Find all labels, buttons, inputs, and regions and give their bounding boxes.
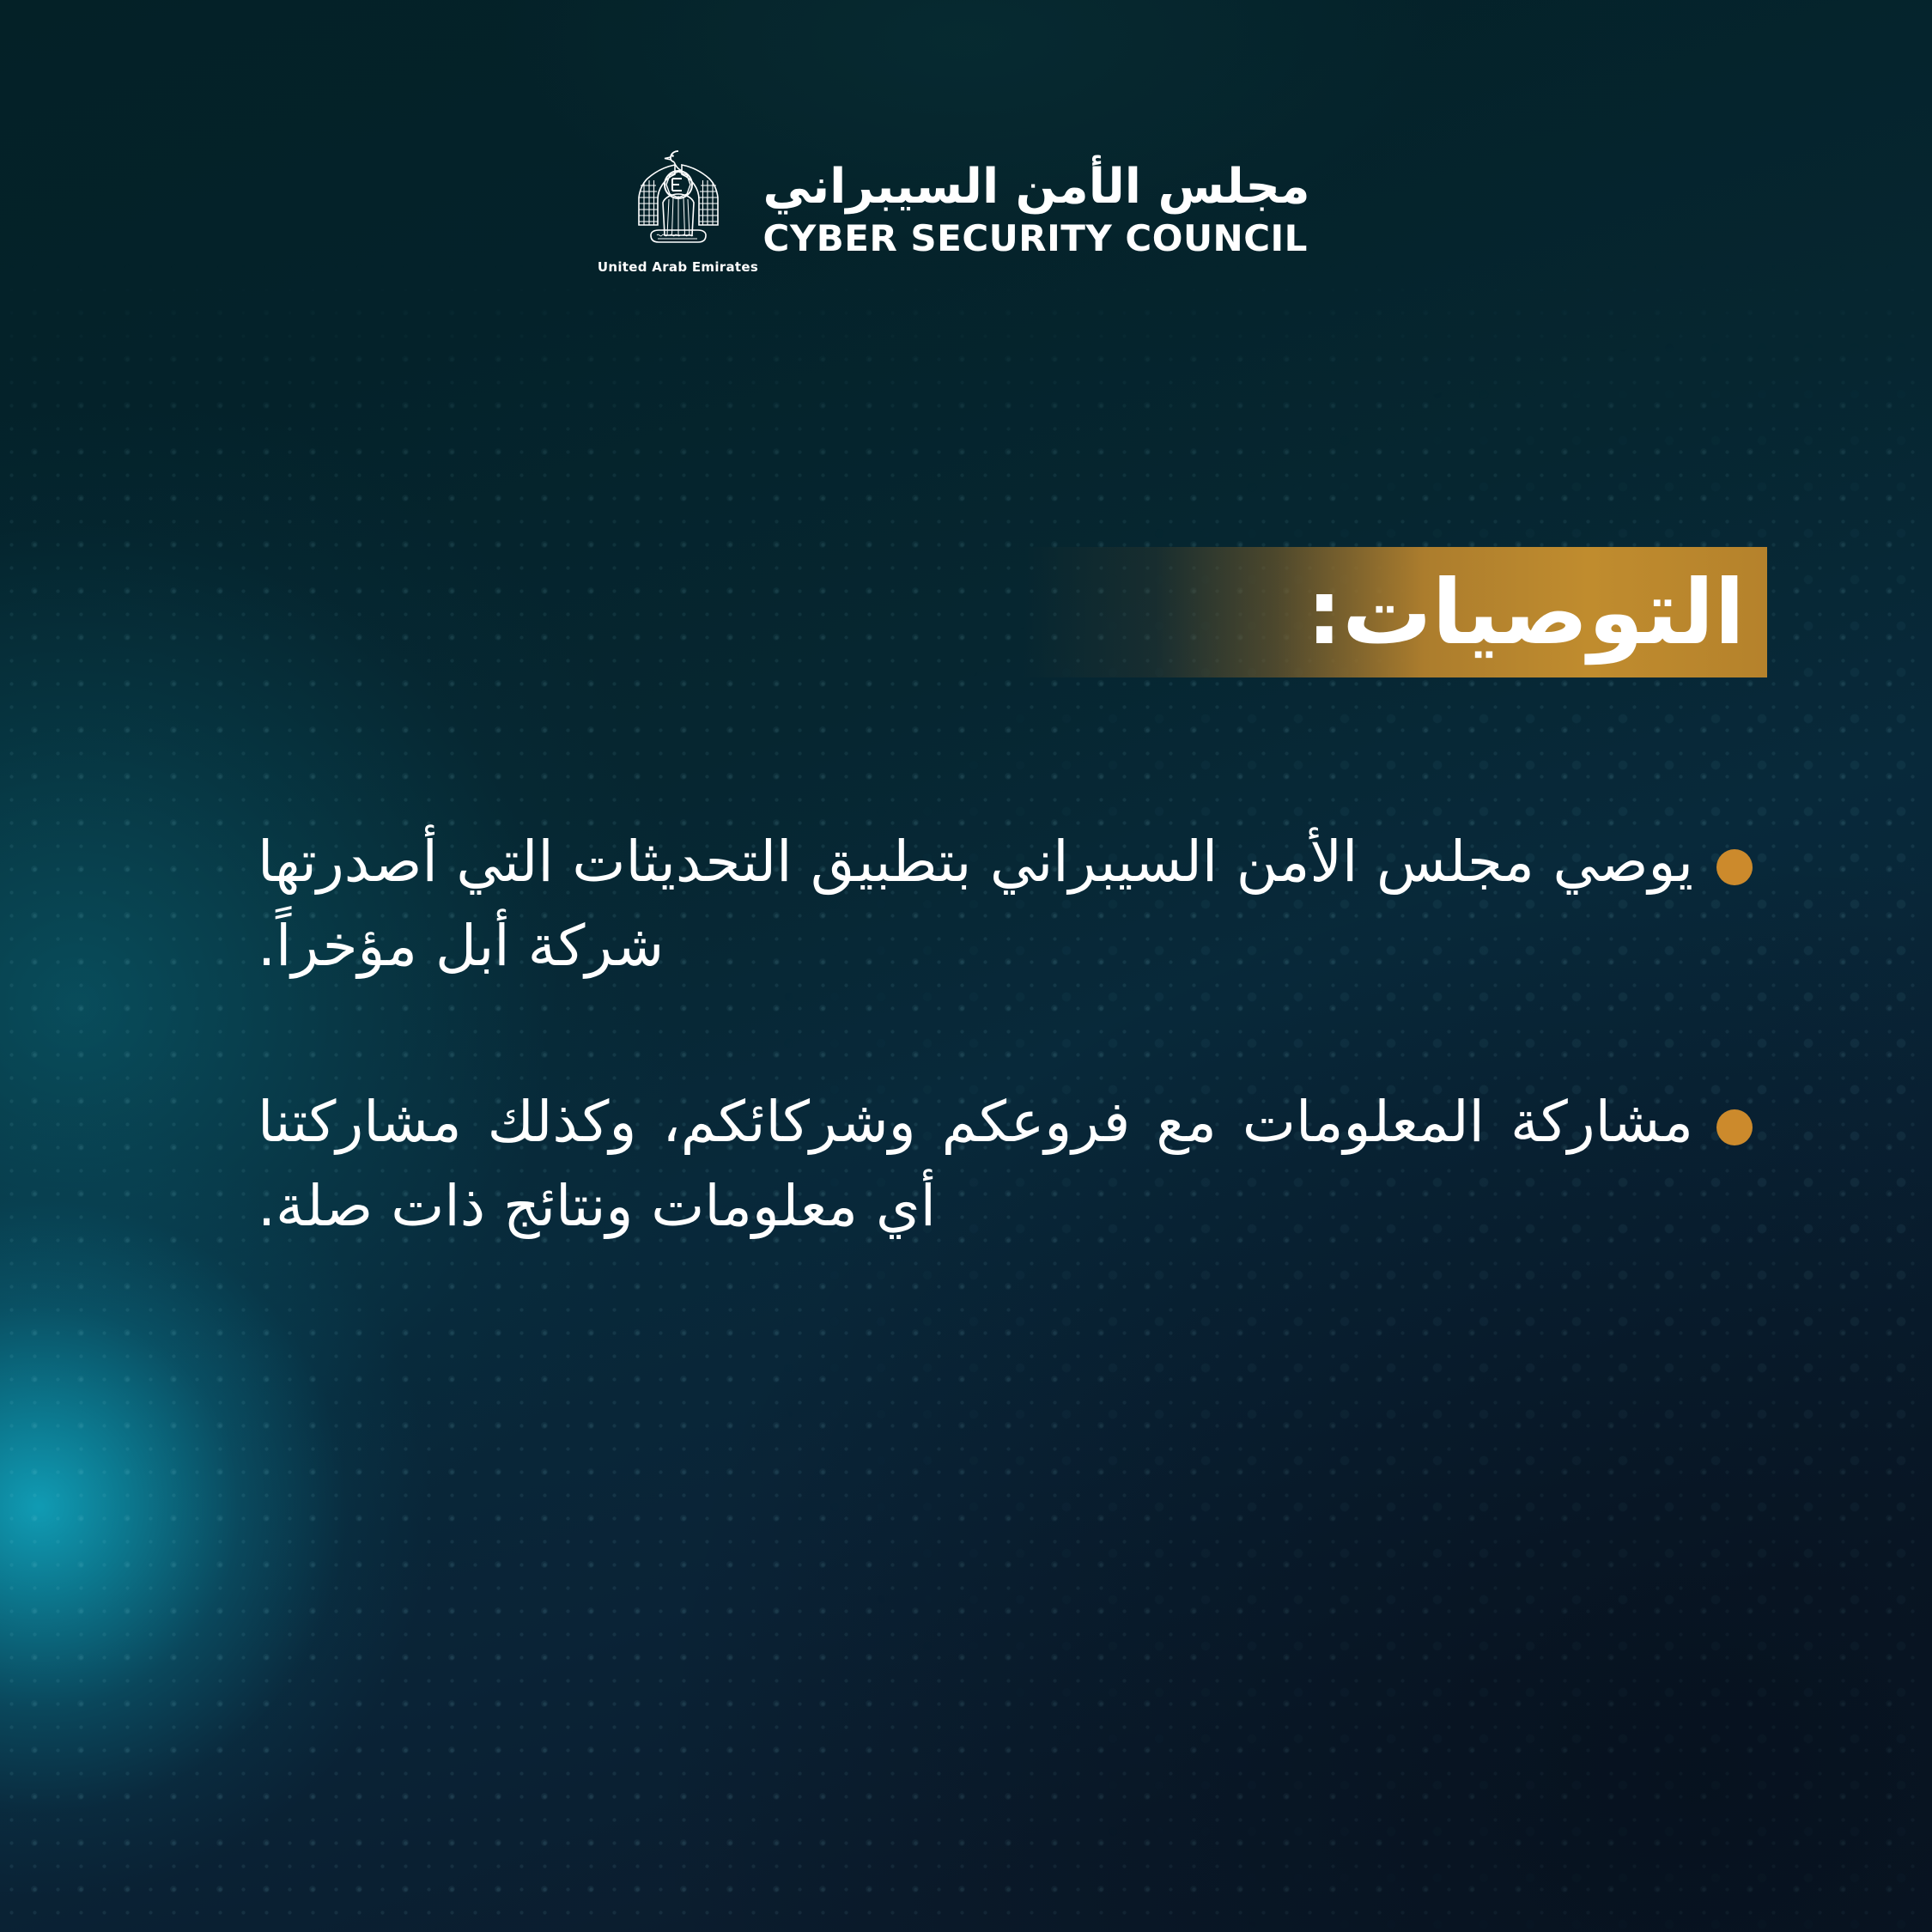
uae-falcon-emblem-icon	[632, 146, 725, 256]
bullet-dot-icon	[1716, 1109, 1753, 1145]
uae-emblem-block: United Arab Emirates	[623, 146, 734, 275]
emblem-caption: United Arab Emirates	[598, 259, 758, 275]
bullet-dot-cell	[1693, 820, 1776, 885]
page-title: التوصيات:	[1307, 568, 1745, 657]
bullet-dot-cell	[1693, 1080, 1776, 1145]
org-name-english: CYBER SECURITY COUNCIL	[763, 218, 1308, 259]
bullet-dot-icon	[1716, 849, 1753, 885]
recommendation-text: مشاركة المعلومات مع فروعكم وشركائكم، وكذ…	[258, 1080, 1693, 1248]
brand-wordmark: مجلس الأمن السيبراني CYBER SECURITY COUN…	[763, 161, 1310, 260]
list-item: مشاركة المعلومات مع فروعكم وشركائكم، وكذ…	[258, 1080, 1776, 1248]
list-item: يوصي مجلس الأمن السيبراني بتطبيق التحديث…	[258, 820, 1776, 987]
recommendations-list: يوصي مجلس الأمن السيبراني بتطبيق التحديث…	[258, 820, 1776, 1341]
recommendation-text: يوصي مجلس الأمن السيبراني بتطبيق التحديث…	[258, 820, 1693, 987]
org-name-arabic: مجلس الأمن السيبراني	[763, 161, 1310, 213]
poster-canvas: مجلس الأمن السيبراني CYBER SECURITY COUN…	[0, 0, 1932, 1932]
brand-logo: مجلس الأمن السيبراني CYBER SECURITY COUN…	[0, 146, 1932, 275]
section-title-banner: التوصيات:	[1022, 547, 1767, 677]
